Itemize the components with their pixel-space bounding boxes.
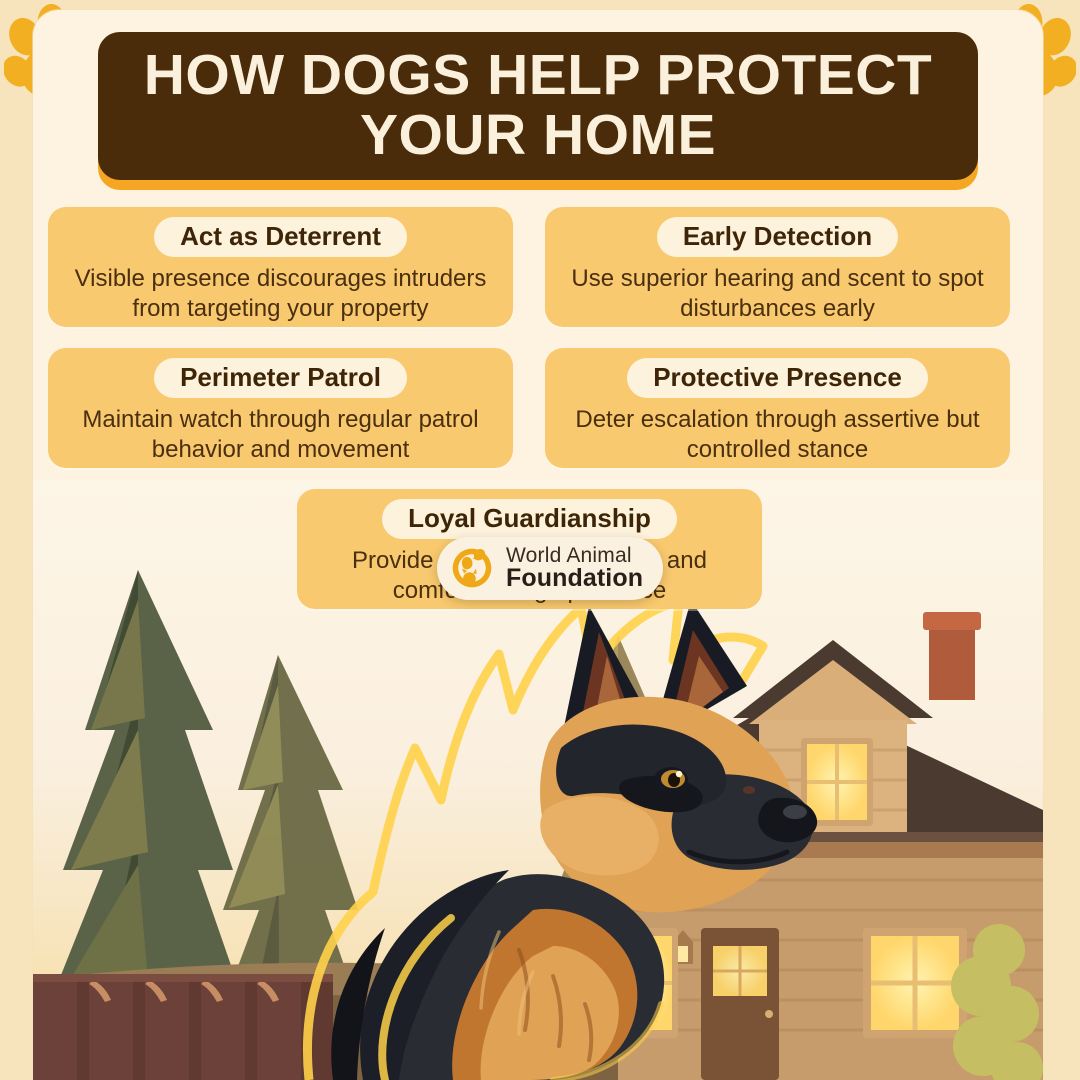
benefit-card-desc: Maintain watch through regular patrol be… — [62, 405, 499, 465]
benefit-card-pill: Loyal Guardianship — [382, 499, 677, 539]
benefit-card-desc: Use superior hearing and scent to spot d… — [559, 264, 996, 324]
benefit-card[interactable]: Act as Deterrent Visible presence discou… — [48, 207, 513, 327]
benefit-card-title: Protective Presence — [653, 362, 902, 392]
title-box: HOW DOGS HELP PROTECT YOUR HOME — [98, 32, 978, 180]
page-title: HOW DOGS HELP PROTECT YOUR HOME — [98, 32, 978, 182]
benefit-card-pill: Perimeter Patrol — [154, 358, 407, 398]
content-panel: HOW DOGS HELP PROTECT YOUR HOME — [33, 10, 1043, 1080]
benefit-card-desc: Deter escalation through assertive but c… — [559, 405, 996, 465]
brand-name-line2: Foundation — [506, 566, 643, 592]
benefit-card[interactable]: Early Detection Use superior hearing and… — [545, 207, 1010, 327]
benefit-card-desc: Visible presence discourages intruders f… — [62, 264, 499, 324]
benefit-card-pill: Early Detection — [657, 217, 898, 257]
brand-name-line1: World Animal — [506, 545, 643, 566]
benefit-card-pill: Act as Deterrent — [154, 217, 407, 257]
benefit-card-title: Loyal Guardianship — [408, 503, 651, 533]
infographic-root: HOW DOGS HELP PROTECT YOUR HOME — [0, 0, 1080, 1080]
benefit-card-title: Early Detection — [683, 221, 872, 251]
benefit-card[interactable]: Protective Presence Deter escalation thr… — [545, 348, 1010, 468]
brand-logo-badge[interactable]: World Animal Foundation — [437, 537, 663, 600]
benefit-card[interactable]: Perimeter Patrol Maintain watch through … — [48, 348, 513, 468]
dog-cat-circle-icon — [449, 545, 495, 591]
benefit-card-title: Act as Deterrent — [180, 221, 381, 251]
benefit-card-title: Perimeter Patrol — [180, 362, 381, 392]
brand-logo-text: World Animal Foundation — [506, 545, 643, 592]
title-text: HOW DOGS HELP PROTECT YOUR HOME — [98, 46, 978, 166]
benefit-card-pill: Protective Presence — [627, 358, 928, 398]
